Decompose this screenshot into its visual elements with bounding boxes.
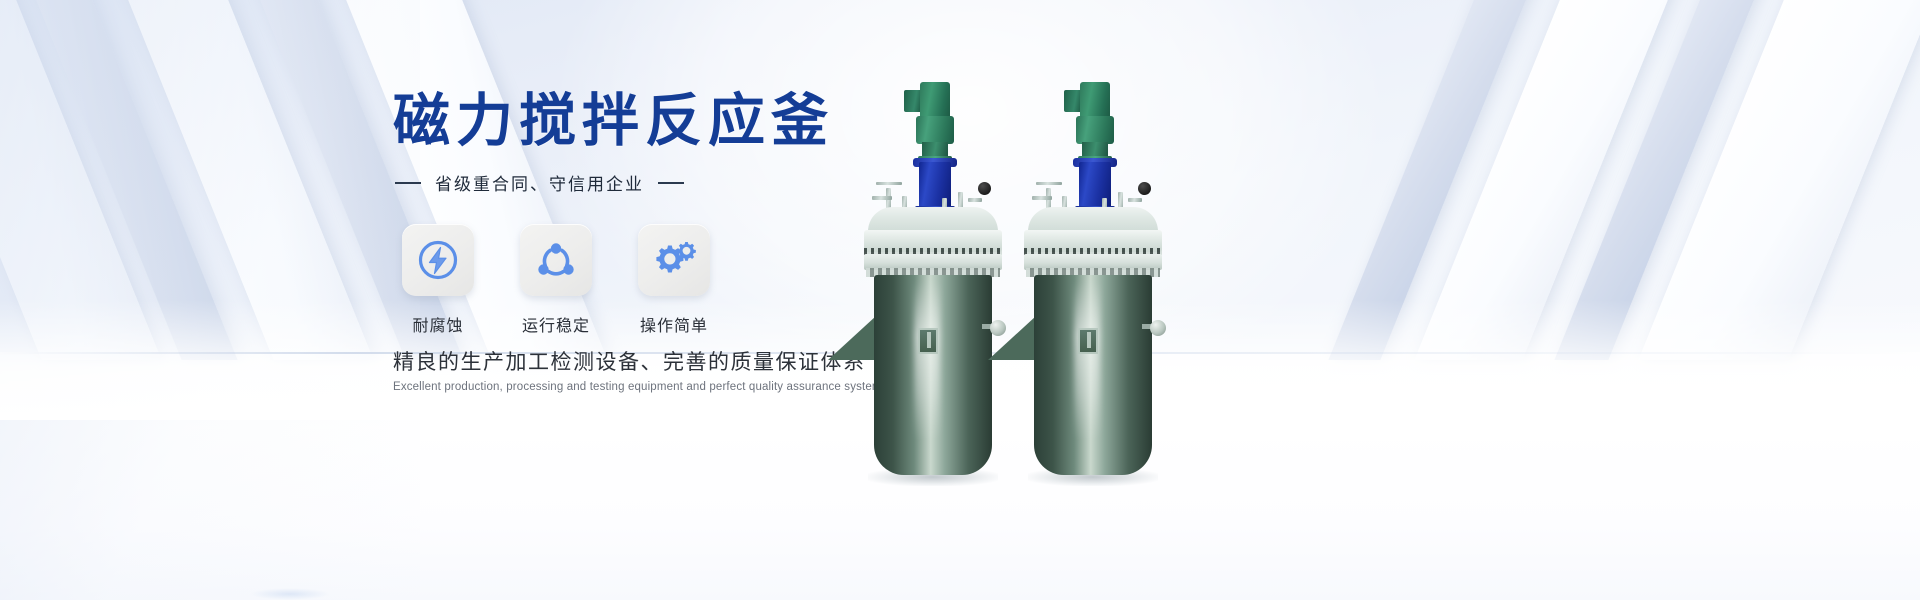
feature-list: 耐腐蚀 运行稳定 bbox=[402, 224, 710, 336]
feature-item-stable-operation[interactable]: 运行稳定 bbox=[520, 224, 592, 336]
feature-item-simple-operation[interactable]: 操作简单 bbox=[638, 224, 710, 336]
product-banner: 磁力搅拌反应釜 省级重合同、守信用企业 耐腐蚀 bbox=[0, 0, 1920, 600]
vessel-support-leg bbox=[828, 316, 876, 360]
valve-arm-c bbox=[968, 198, 982, 202]
banner-subtitle: 省级重合同、守信用企业 bbox=[395, 170, 684, 195]
motor-body bbox=[916, 116, 954, 144]
valve-arm-b bbox=[872, 196, 892, 200]
banner-title: 磁力搅拌反应釜 bbox=[393, 92, 834, 152]
vessel-nameplate bbox=[1078, 328, 1098, 354]
gears-icon bbox=[651, 238, 697, 282]
banner-subtitle-text: 省级重合同、守信用企业 bbox=[435, 170, 644, 195]
vessel-nameplate bbox=[918, 328, 938, 354]
feature-tile bbox=[520, 224, 592, 296]
feature-item-corrosion-resistant[interactable]: 耐腐蚀 bbox=[402, 224, 474, 336]
motor-top bbox=[920, 82, 950, 118]
product-image bbox=[840, 60, 1200, 440]
vessel-side-port bbox=[1150, 320, 1166, 336]
feature-label: 运行稳定 bbox=[522, 312, 590, 336]
valve-arm-b bbox=[1032, 196, 1052, 200]
feature-label: 操作简单 bbox=[640, 312, 708, 336]
dash-left-icon bbox=[395, 182, 421, 184]
motor-body bbox=[1076, 116, 1114, 144]
vessel-highlight bbox=[914, 280, 940, 440]
lightning-bolt-icon bbox=[416, 238, 460, 282]
feature-label: 耐腐蚀 bbox=[412, 312, 463, 336]
tagline-chinese: 精良的生产加工检测设备、完善的质量保证体系 bbox=[393, 346, 866, 376]
feature-tile bbox=[638, 224, 710, 296]
vessel-highlight bbox=[1074, 280, 1100, 440]
vessel-support-leg bbox=[988, 316, 1036, 360]
feature-tile bbox=[402, 224, 474, 296]
valve-arm-c bbox=[1128, 198, 1142, 202]
tagline-english: Excellent production, processing and tes… bbox=[393, 381, 882, 393]
network-nodes-icon bbox=[534, 238, 578, 282]
valve-arm-a bbox=[876, 182, 902, 185]
pressure-gauge bbox=[978, 182, 991, 195]
dash-right-icon bbox=[658, 182, 684, 184]
pressure-gauge bbox=[1138, 182, 1151, 195]
motor-top bbox=[1080, 82, 1110, 118]
valve-arm-a bbox=[1036, 182, 1062, 185]
